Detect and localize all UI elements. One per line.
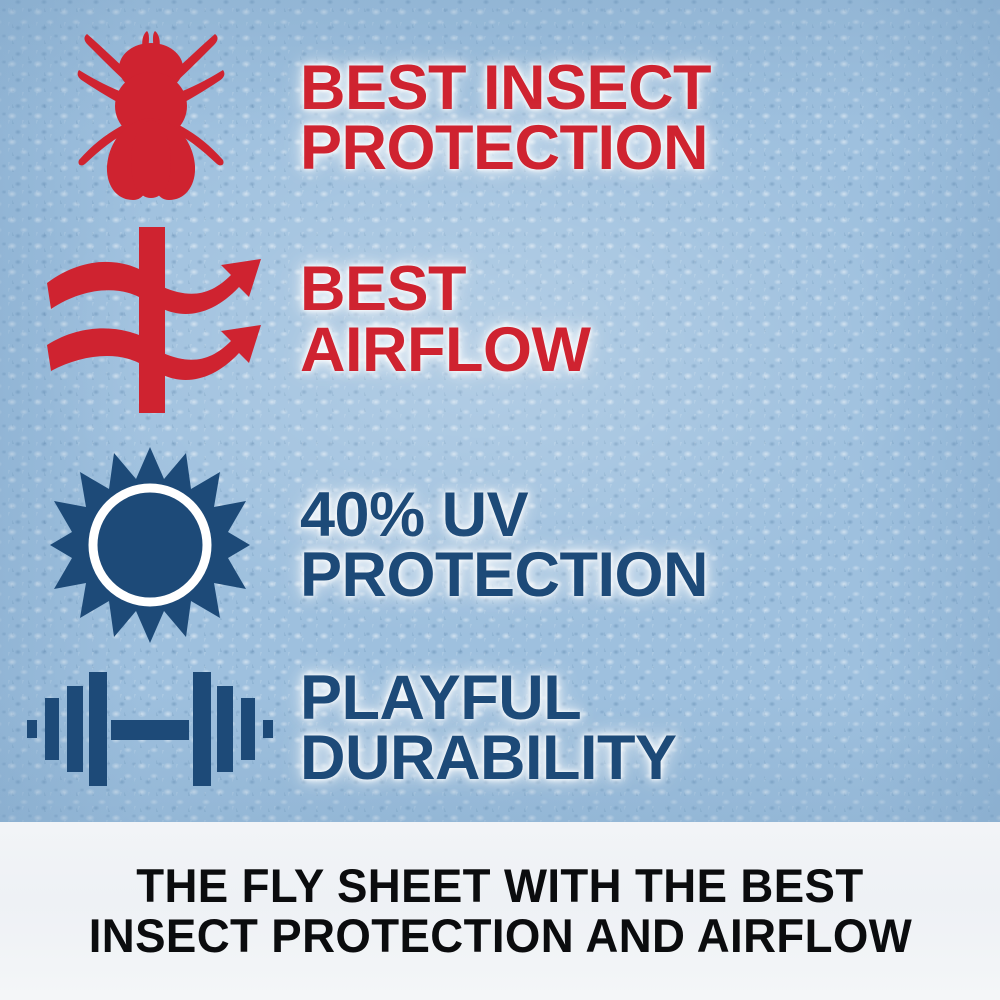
feature-label-durability: PLAYFUL DURABILITY [300,668,1000,789]
feature-label-cell: BEST INSECT PROTECTION [300,58,1000,179]
airflow-icon [35,225,265,415]
feature-icon-cell [0,28,300,208]
feature-label-cell: PLAYFUL DURABILITY [300,668,1000,789]
caption-line-2: INSECT PROTECTION AND AIRFLOW [88,911,911,961]
caption-band: THE FLY SHEET WITH THE BEST INSECT PROTE… [0,822,1000,1000]
feature-label-airflow: BEST AIRFLOW [300,259,1000,380]
feature-row-durability: PLAYFUL DURABILITY [0,648,1000,808]
feature-row-insect-protection: BEST INSECT PROTECTION [0,28,1000,208]
feature-icon-cell [0,658,300,798]
feature-icon-cell [0,225,300,415]
feature-label-cell: BEST AIRFLOW [300,259,1000,380]
caption-line-1: THE FLY SHEET WITH THE BEST [136,861,863,911]
feature-label-uv-protection: 40% UV PROTECTION [300,485,1000,606]
sun-uv-icon [50,445,250,645]
feature-label-insect-protection: BEST INSECT PROTECTION [300,58,1000,179]
fly-icon [65,28,235,208]
product-feature-poster: BEST INSECT PROTECTION [0,0,1000,1000]
feature-row-airflow: BEST AIRFLOW [0,222,1000,417]
dumbbell-icon [25,658,275,798]
feature-icon-cell [0,445,300,645]
feature-row-uv-protection: 40% UV PROTECTION [0,440,1000,650]
feature-label-cell: 40% UV PROTECTION [300,485,1000,606]
